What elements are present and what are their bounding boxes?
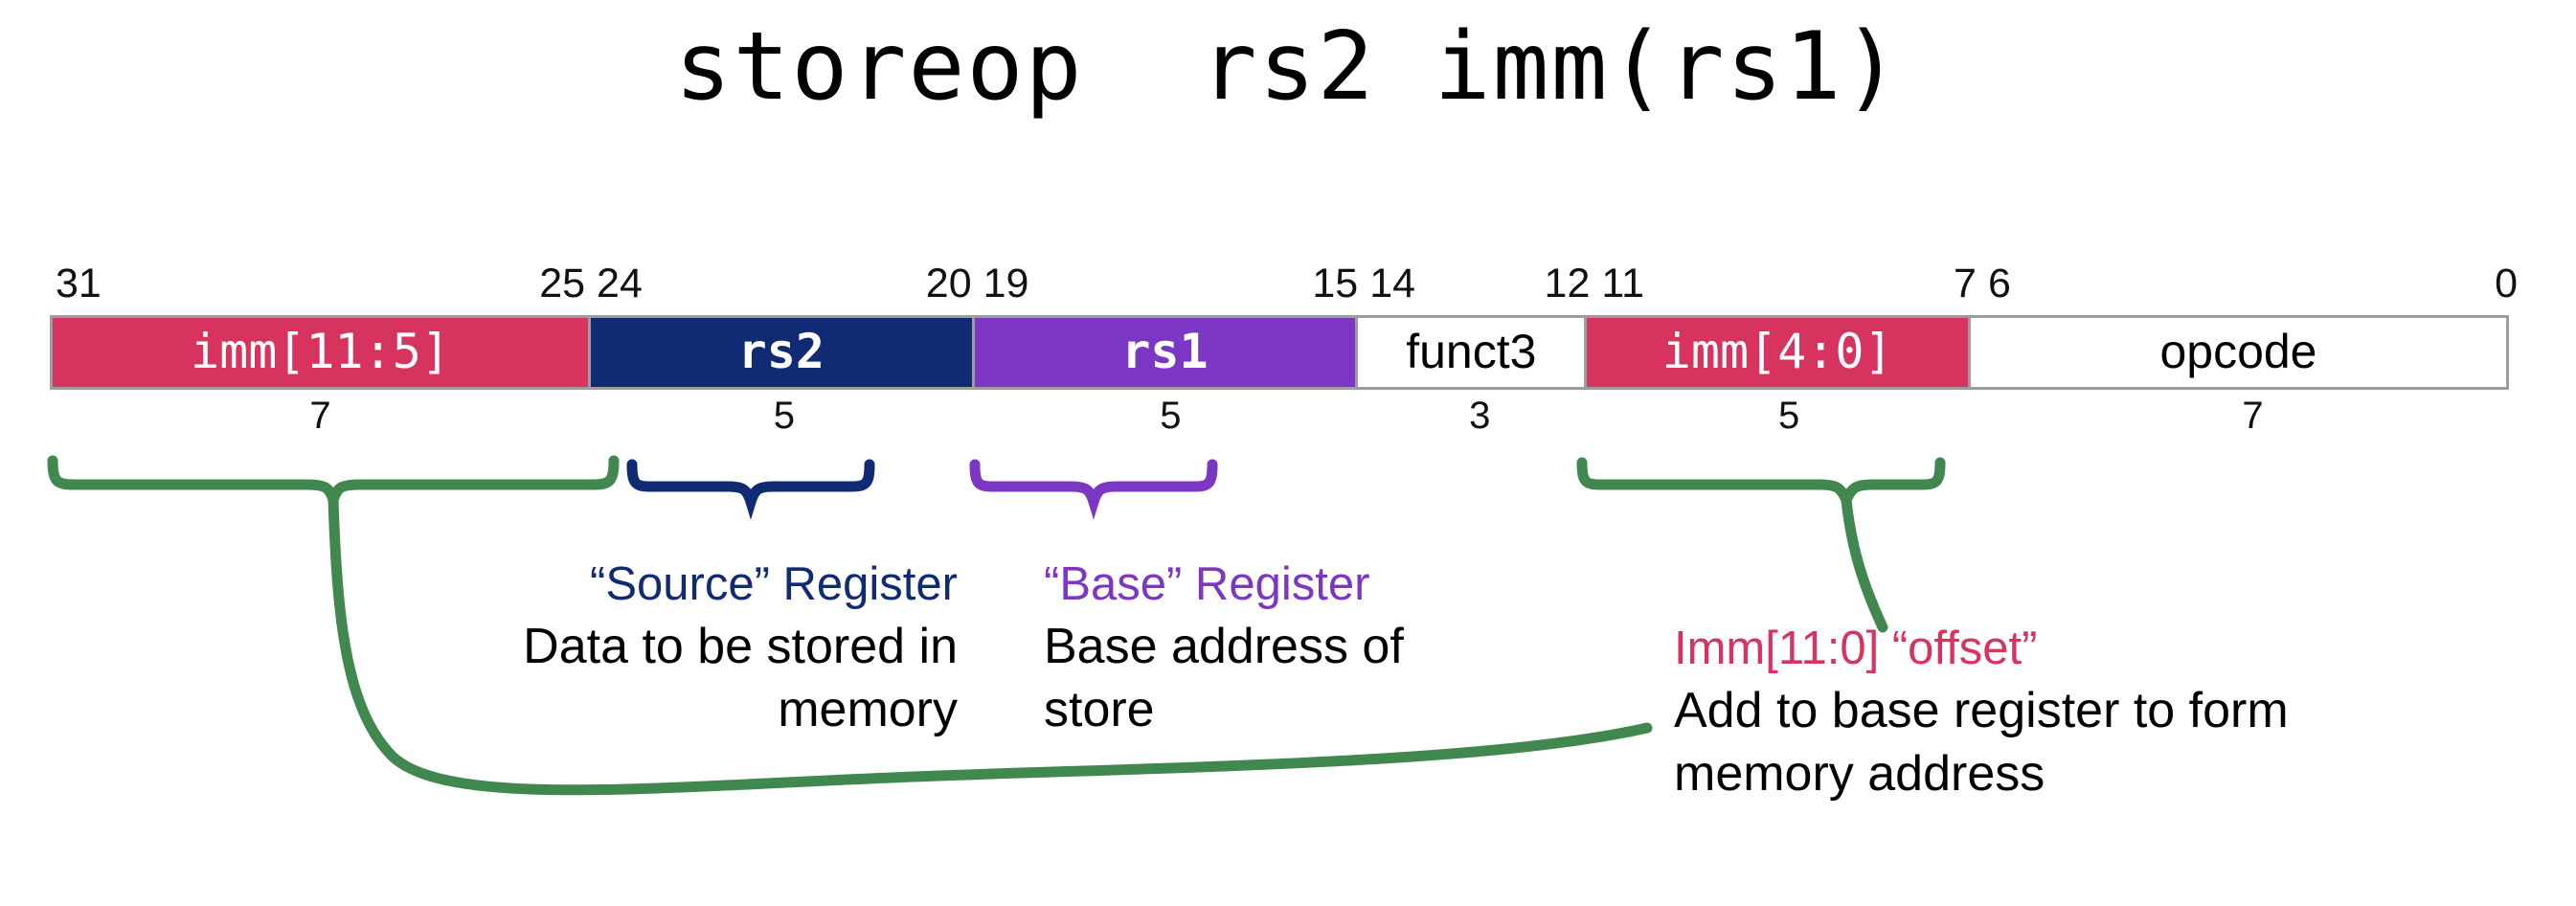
- brace-rs1: [975, 464, 1212, 502]
- field-width-label: 5: [591, 395, 978, 442]
- field-label: imm[11:5]: [191, 328, 450, 375]
- bit-range-rs1: 1915: [978, 260, 1365, 306]
- bit-range-rs2: 2420: [591, 260, 978, 306]
- bit-range-imm40: 117: [1595, 260, 1982, 306]
- field-width-label: 5: [978, 395, 1365, 442]
- annotation-base-register: “Base” Register Base address of store: [1044, 554, 1523, 741]
- field-imm115: imm[11:5]: [50, 315, 591, 390]
- connector-imm-low-to-offset: [1846, 500, 1883, 627]
- field-rs1: rs1: [972, 315, 1359, 390]
- bit-index-low: 20: [926, 260, 972, 306]
- field-funct3: funct3: [1355, 315, 1587, 390]
- annotation-source-body: Data to be stored in memory: [412, 615, 958, 741]
- field-width-label: 7: [50, 395, 591, 442]
- annotation-immediate-offset: Imm[11:0] “offset” Add to base register …: [1674, 618, 2402, 805]
- field-width-label: 3: [1364, 395, 1595, 442]
- instruction-field-bar: imm[11:5]rs2rs1funct3imm[4:0]opcode: [50, 315, 2523, 390]
- bit-index-high: 19: [983, 260, 1029, 306]
- bit-range-opcode: 60: [1982, 260, 2523, 306]
- field-label: opcode: [2159, 328, 2316, 375]
- bit-index-high: 6: [1988, 260, 2011, 306]
- field-imm40: imm[4:0]: [1584, 315, 1971, 390]
- brace-imm-low: [1582, 463, 1940, 500]
- bit-index-low: 15: [1312, 260, 1358, 306]
- bit-range-imm115: 3125: [50, 260, 591, 306]
- field-rs2: rs2: [588, 315, 975, 390]
- field-width-row: 755357: [50, 395, 2523, 442]
- brace-rs2: [632, 464, 870, 502]
- field-label: rs2: [738, 328, 825, 375]
- bit-index-high: 11: [1601, 260, 1644, 306]
- field-label: imm[4:0]: [1662, 328, 1893, 375]
- bit-index-low: 0: [2495, 260, 2518, 306]
- bit-number-ruler: 312524201915141211760: [50, 260, 2523, 306]
- annotation-source-register: “Source” Register Data to be stored in m…: [412, 554, 958, 741]
- page-title: storeop rs2 imm(rs1): [0, 13, 2576, 122]
- bit-index-high: 24: [597, 260, 643, 306]
- annotation-offset-heading: Imm[11:0] “offset”: [1674, 618, 2402, 679]
- brace-imm-high: [53, 461, 614, 500]
- field-width-label: 7: [1982, 395, 2523, 442]
- field-label: rs1: [1121, 328, 1208, 375]
- field-opcode: opcode: [1968, 315, 2509, 390]
- annotation-source-heading: “Source” Register: [412, 554, 958, 615]
- field-width-label: 5: [1595, 395, 1982, 442]
- bit-index-high: 14: [1369, 260, 1415, 306]
- bit-index-low: 7: [1954, 260, 1977, 306]
- bit-range-funct3: 1412: [1364, 260, 1595, 306]
- annotation-base-heading: “Base” Register: [1044, 554, 1523, 615]
- annotation-base-body: Base address of store: [1044, 615, 1523, 741]
- bit-index-low: 25: [539, 260, 585, 306]
- field-label: funct3: [1406, 328, 1536, 375]
- annotation-offset-body: Add to base register to form memory addr…: [1674, 679, 2402, 805]
- bit-index-low: 12: [1545, 260, 1591, 306]
- bit-index-high: 31: [56, 260, 102, 306]
